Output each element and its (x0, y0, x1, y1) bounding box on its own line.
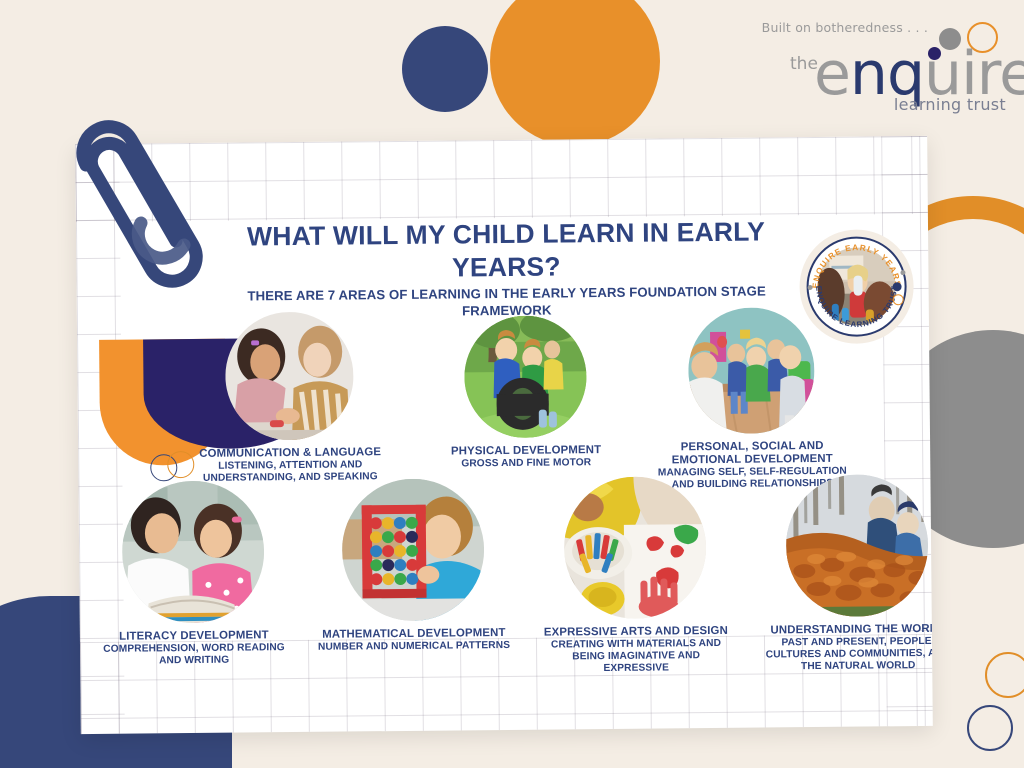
enquire-logo: Built on botheredness . . . the enquire … (778, 14, 1010, 112)
area-photo-physical-development (464, 315, 587, 438)
decor-small-navy-ring (967, 705, 1013, 751)
learning-area-physical-development: PHYSICAL DEVELOPMENT GROSS AND FINE MOTO… (435, 315, 616, 471)
area-photo-expressive-arts-and-design (563, 476, 706, 619)
area-subtitle: CREATING WITH MATERIALS AND BEING IMAGIN… (538, 638, 734, 675)
decor-orange-circle (490, 0, 660, 146)
area-subtitle: PAST AND PRESENT, PEOPLE, CULTURES AND C… (758, 636, 933, 673)
area-photo-mathematical-development (341, 478, 484, 621)
area-photo-personal-social-and-emotional-development (688, 307, 815, 434)
logo-tagline: Built on botheredness . . . (762, 20, 928, 35)
poster-canvas: Built on botheredness . . . the enquire … (0, 0, 1024, 768)
seal-gray-dot-icon (900, 270, 905, 275)
svg-text:ENQUIRE EARLY YEARS: ENQUIRE EARLY YEARS (811, 243, 902, 289)
seal-left-dot-icon (808, 285, 813, 290)
learning-area-personal-social-and-emotional-development: PERSONAL, SOCIAL AND EMOTIONAL DEVELOPME… (649, 307, 855, 492)
poster-card: WHAT WILL MY CHILD LEARN IN EARLY YEARS?… (75, 136, 933, 734)
learning-area-understanding-the-world: UNDERSTANDING THE WORLD PAST AND PRESENT… (756, 474, 932, 674)
decor-small-orange-ring (985, 652, 1024, 698)
area-photo-literacy-development (121, 480, 264, 623)
logo-wordmark-p1: e (814, 39, 850, 109)
seal-orange-ring-icon (893, 294, 904, 305)
seal-navy-dot-icon (893, 282, 902, 291)
area-subtitle: COMPREHENSION, WORD READING AND WRITING (96, 642, 292, 668)
learning-area-expressive-arts-and-design: EXPRESSIVE ARTS AND DESIGN CREATING WITH… (536, 476, 734, 676)
decor-navy-circle (402, 26, 488, 112)
page-title: WHAT WILL MY CHILD LEARN IN EARLY YEARS? (236, 215, 777, 286)
learning-area-literacy-development: LITERACY DEVELOPMENT COMPREHENSION, WORD… (94, 480, 292, 668)
area-photo-understanding-the-world (785, 474, 928, 617)
area-title: PERSONAL, SOCIAL AND EMOTIONAL DEVELOPME… (650, 440, 854, 468)
area-subtitle: GROSS AND FINE MOTOR (436, 457, 616, 471)
area-photo-communication-and-language (225, 311, 354, 440)
learning-area-mathematical-development: MATHEMATICAL DEVELOPMENT NUMBER AND NUME… (314, 478, 512, 654)
learning-area-communication-and-language: COMMUNICATION & LANGUAGE LISTENING, ATTE… (191, 311, 389, 485)
logo-subtitle: learning trust (894, 95, 1006, 114)
seal-top-text: ENQUIRE EARLY YEARS (811, 243, 902, 289)
area-subtitle: NUMBER AND NUMERICAL PATTERNS (316, 640, 512, 654)
